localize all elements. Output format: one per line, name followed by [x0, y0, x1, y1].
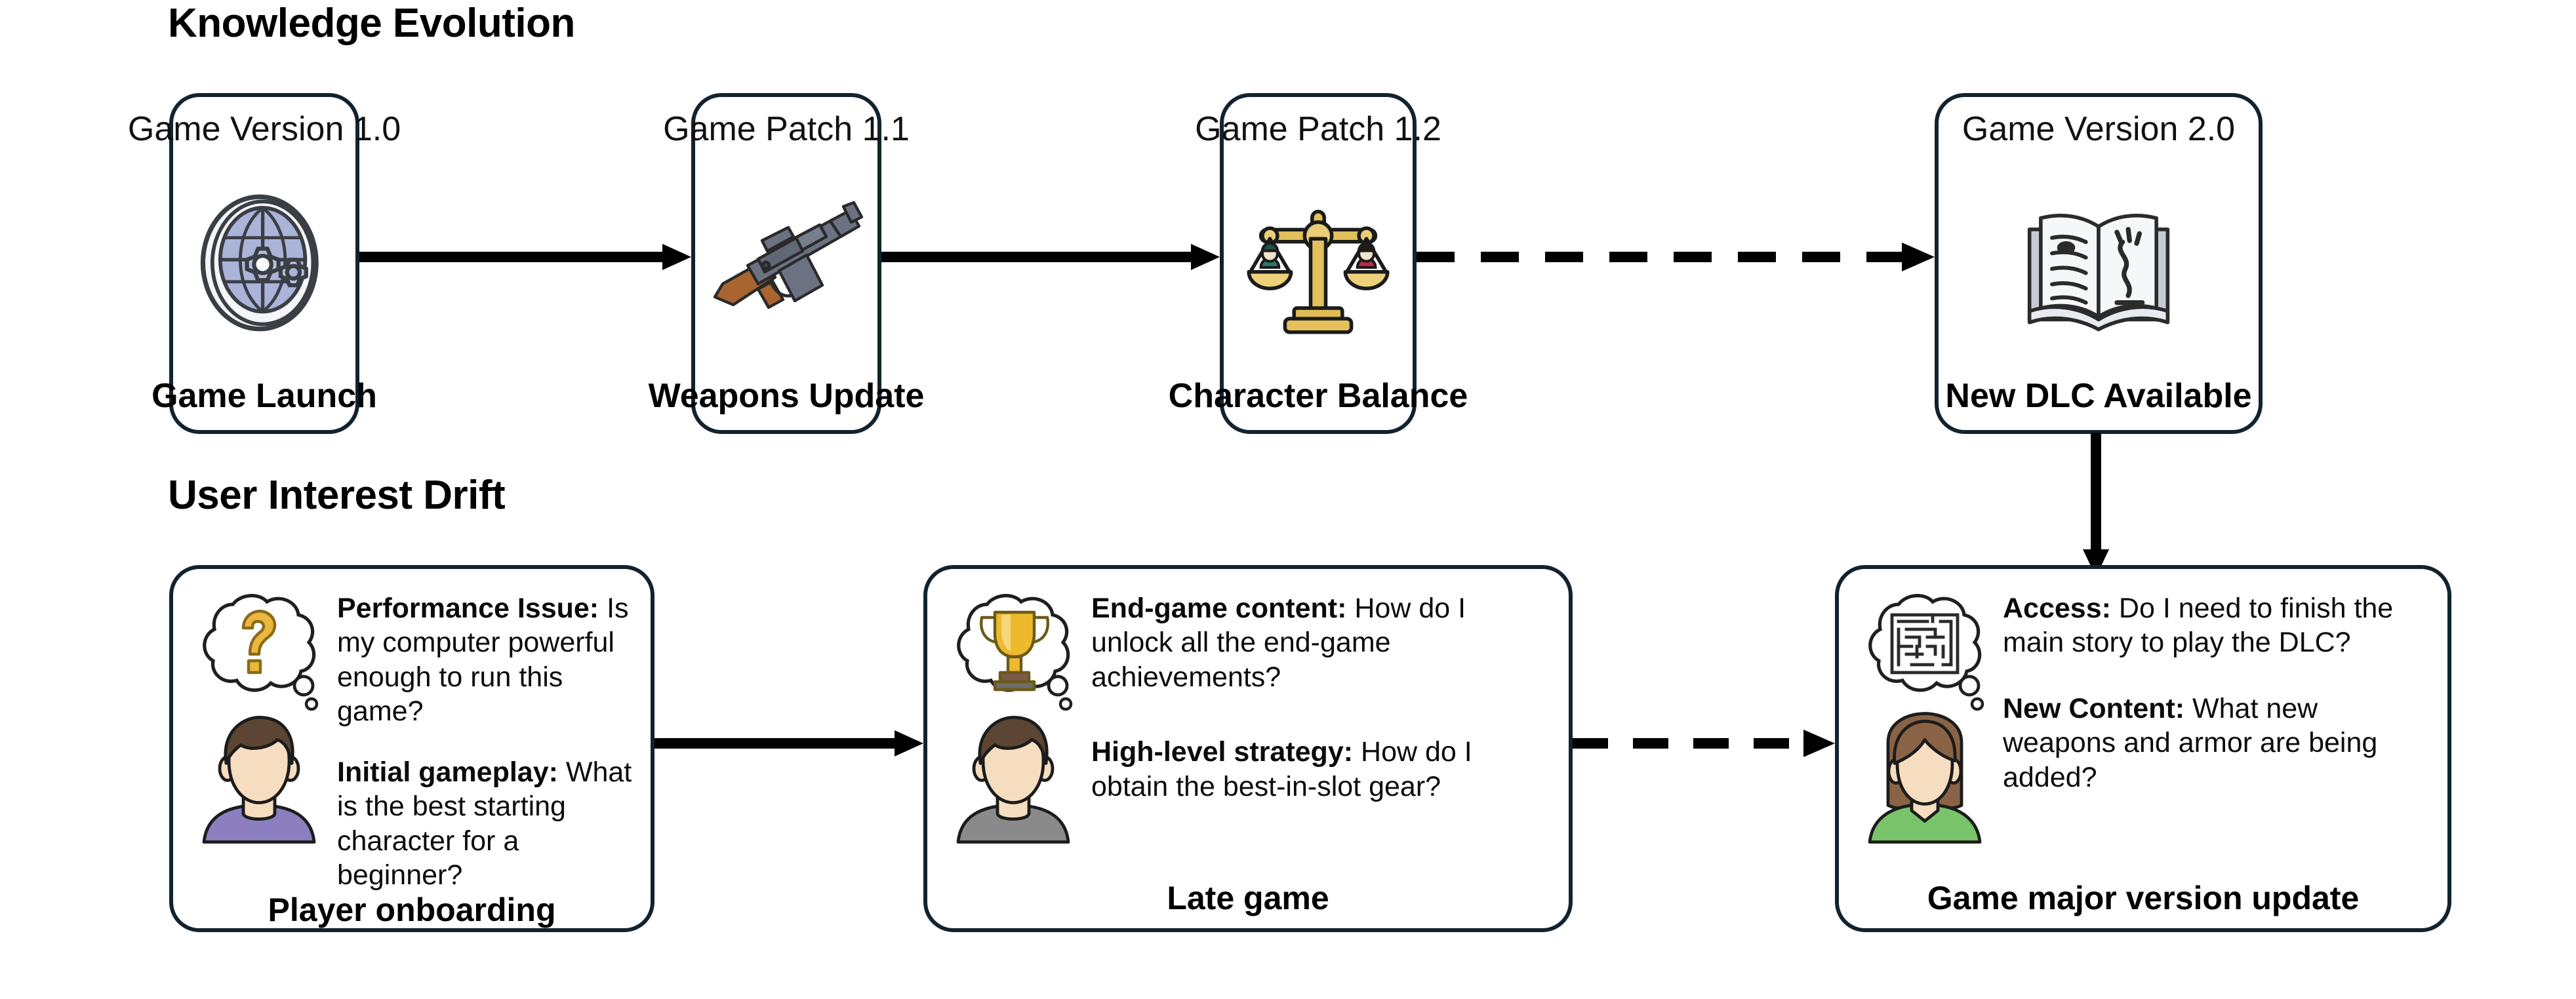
- timeline-card-caption: Character Balance: [1169, 378, 1468, 414]
- timeline-card-game-version-1-0[interactable]: Game Version 1.0 Game Launch: [169, 93, 359, 434]
- rifle-icon: [695, 147, 877, 379]
- persona-card-body: Performance Issue: Is my computer powerf…: [173, 569, 651, 893]
- timeline-connector-3-dashed: [1417, 241, 1935, 273]
- persona-card-caption: Late game: [927, 881, 1569, 916]
- timeline-card-caption: Game Launch: [151, 378, 377, 414]
- timeline-card-title: Game Version 1.0: [128, 111, 401, 147]
- timeline-card-caption: Weapons Update: [649, 378, 925, 414]
- persona-avatar-group: [1856, 586, 1994, 881]
- persona-question-item: Performance Issue: Is my computer powerf…: [337, 591, 634, 729]
- avatar-female-green: [1859, 709, 1990, 844]
- persona-card-caption: Player onboarding: [173, 893, 651, 928]
- persona-card-body: Access: Do I need to finish the main sto…: [1839, 569, 2447, 881]
- persona-connector-2-dashed: [1573, 728, 1835, 759]
- persona-question-list: End-game content: How do I unlock all th…: [1082, 586, 1552, 881]
- thought-bubble-maze: [1859, 589, 1990, 713]
- persona-question-item: Access: Do I need to finish the main sto…: [2003, 591, 2430, 660]
- timeline-card-caption: New DLC Available: [1945, 378, 2251, 414]
- question-label: High-level strategy:: [1091, 736, 1353, 768]
- persona-card-game-major-version-update[interactable]: Access: Do I need to finish the main sto…: [1835, 565, 2451, 932]
- persona-question-list: Access: Do I need to finish the main sto…: [1994, 586, 2430, 881]
- timeline-card-title: Game Patch 1.1: [663, 111, 910, 147]
- persona-avatar-group: [944, 586, 1082, 881]
- timeline-card-game-patch-1-2[interactable]: Game Patch 1.2: [1220, 93, 1417, 434]
- timeline-card-title: Game Patch 1.2: [1195, 111, 1441, 147]
- thought-bubble-question-mark: [193, 589, 325, 713]
- persona-question-item: New Content: What new weapons and armor …: [2003, 692, 2430, 794]
- section-heading-user-interest-drift: User Interest Drift: [168, 475, 505, 516]
- timeline-card-title: Game Version 2.0: [1962, 111, 2235, 147]
- persona-question-item: High-level strategy: How do I obtain the…: [1091, 735, 1552, 804]
- timeline-connector-2-solid: [881, 241, 1220, 273]
- question-label: Performance Issue:: [337, 593, 599, 624]
- avatar-male-gray: [948, 709, 1079, 844]
- persona-card-player-onboarding[interactable]: Performance Issue: Is my computer powerf…: [169, 565, 654, 932]
- avatar-male-purple: [193, 709, 325, 844]
- globe-gear-icon: [173, 147, 355, 379]
- diagram-canvas: Knowledge Evolution User Interest Drift …: [0, 0, 2576, 999]
- persona-question-item: Initial gameplay: What is the best start…: [337, 755, 634, 893]
- balance-scale-icon: [1224, 147, 1413, 379]
- cross-connector-down-solid: [2080, 433, 2112, 577]
- question-label: Access:: [2003, 593, 2111, 624]
- timeline-connector-1-solid: [359, 241, 691, 273]
- persona-card-late-game[interactable]: End-game content: How do I unlock all th…: [923, 565, 1573, 932]
- persona-avatar-group: [190, 586, 328, 893]
- open-book-icon: [1939, 147, 2259, 379]
- section-heading-knowledge-evolution: Knowledge Evolution: [168, 3, 575, 44]
- persona-question-list: Performance Issue: Is my computer powerf…: [328, 586, 634, 893]
- persona-card-caption: Game major version update: [1839, 881, 2447, 916]
- question-label: End-game content:: [1091, 593, 1346, 624]
- timeline-card-game-version-2-0[interactable]: Game Version 2.0: [1935, 93, 2263, 434]
- question-label: New Content:: [2003, 693, 2184, 724]
- persona-card-body: End-game content: How do I unlock all th…: [927, 569, 1569, 881]
- thought-bubble-trophy: [948, 589, 1079, 713]
- persona-question-item: End-game content: How do I unlock all th…: [1091, 591, 1552, 694]
- timeline-card-game-patch-1-1[interactable]: Game Patch 1.1 Weapons: [691, 93, 881, 434]
- persona-connector-1-solid: [654, 728, 923, 759]
- question-label: Initial gameplay:: [337, 756, 558, 788]
